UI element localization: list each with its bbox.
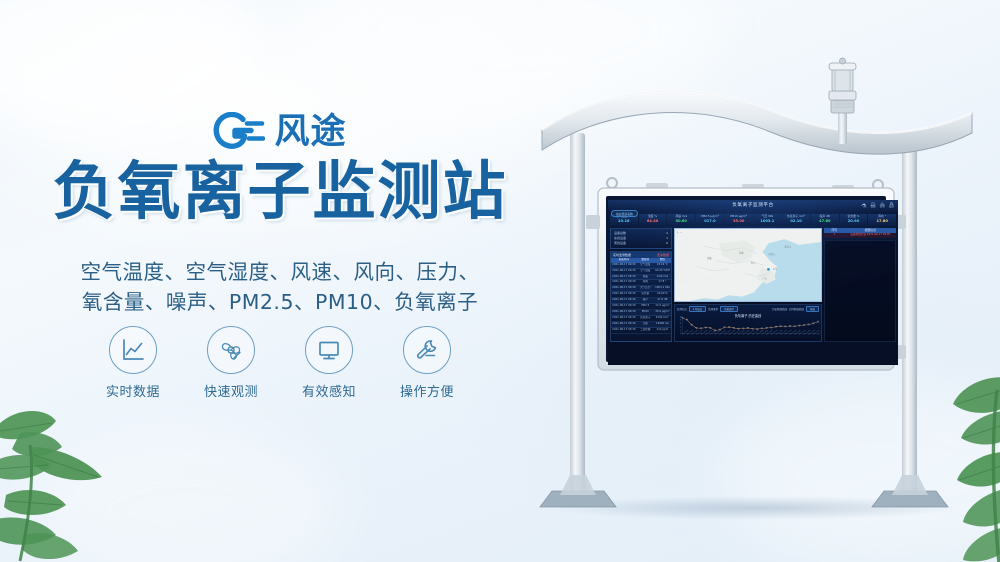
feature-icon-wrap xyxy=(207,326,255,374)
fengtu-wind-g-logo-icon xyxy=(213,112,265,152)
dashboard-center-column: 新疆 西藏 四川 内蒙古 山东 广东 黑龙江 ＋ － xyxy=(674,228,822,342)
table-cell: 噪声 xyxy=(637,298,654,303)
alarm-index: 1 xyxy=(824,233,845,238)
table-caption-text: 实时监测数据 xyxy=(613,253,631,257)
table-cell: 35.0 μg/m³ xyxy=(654,310,671,315)
table-cell: 17.0 μg/m³ xyxy=(654,304,671,309)
metric-card[interactable]: 风向 °17.80 xyxy=(868,214,896,226)
feature-icon-wrap xyxy=(403,326,451,374)
site-select[interactable]: 1号站点 xyxy=(689,306,706,312)
header-icon-label: 设置 xyxy=(889,205,894,208)
table-cell: 2021-08-17 09:30 xyxy=(611,298,637,303)
metric-label: 气压 hPa xyxy=(754,215,782,218)
subtitle-line-1: 空气温度、空气湿度、风速、风向、压力、 xyxy=(0,258,560,288)
header-icon-data[interactable]: ◳数据 xyxy=(870,202,875,209)
stat-line: 离线设备0 xyxy=(614,241,668,246)
table-cell: 2100 /cm³ xyxy=(654,316,671,321)
feature-item-effective-sensing[interactable]: 有效感知 xyxy=(298,326,360,400)
history-chart: 监测站点 1号站点 监测要素 负氧离子 历史数据曲线 实时数据曲线 导出 负氧离… xyxy=(674,304,822,342)
metric-value: 00.60 xyxy=(667,219,695,224)
metric-value: 35.00 xyxy=(725,219,753,224)
metric-value: 23.16 xyxy=(610,219,638,224)
header-icon-label: 气象 xyxy=(861,205,866,208)
svg-text:2: 2 xyxy=(680,326,681,328)
metric-value: 17.80 xyxy=(868,219,896,224)
table-row[interactable]: 2021-08-17 09:30二氧化碳412 ppm xyxy=(611,328,671,334)
svg-text:6: 6 xyxy=(680,316,681,318)
site-select-label: 监测站点 xyxy=(677,307,687,311)
metric-card[interactable]: 风速 m/s00.60 xyxy=(667,214,695,226)
brand-name: 风途 xyxy=(274,115,346,150)
table-cell: 2021-08-17 09:30 xyxy=(611,292,637,297)
table-cell: 20.90 % xyxy=(654,292,671,297)
banner-root: 风途 负氧离子监测站 空气温度、空气湿度、风速、风向、压力、 氧含量、噪声、PM… xyxy=(0,0,1000,562)
table-cell: 2021-08-17 09:30 xyxy=(611,310,637,315)
dashboard-body: 设备总数1在线设备1离线设备0 实时监测数据 更多数据 采集时间 数据项 数值 … xyxy=(608,226,898,344)
table-cell: 负氧离子 xyxy=(637,316,654,321)
login-button[interactable]: 欢迎登录系统 xyxy=(611,210,638,217)
table-cell: PM10 xyxy=(637,310,654,315)
dashboard-root: 负氧离子监测平台 欢迎登录系统 ☁气象 ◳数据 ◎监测 ⚙设置 空气温度 ℃23… xyxy=(608,200,898,365)
table-cell: 2021-08-17 09:30 xyxy=(611,269,637,274)
left-base-plate xyxy=(540,475,616,507)
table-cell: 64.40 %RH xyxy=(654,269,671,274)
svg-text:4: 4 xyxy=(680,323,681,325)
map-graphic: 新疆 西藏 四川 内蒙古 山东 广东 黑龙江 xyxy=(675,229,821,301)
metric-value: 20.90 xyxy=(840,219,868,224)
table-body: 2021-08-17 09:30空气温度23.16 ℃2021-08-17 09… xyxy=(611,263,671,334)
metric-label: 负氧离子 /cm³ xyxy=(782,215,810,218)
feature-label: 实时数据 xyxy=(102,381,164,400)
metric-value: 017.0 xyxy=(696,219,724,224)
subtitle-line-2: 氧含量、噪声、PM2.5、PM10、负氧离子 xyxy=(0,288,560,318)
text-column: 风途 负氧离子监测站 空气温度、空气湿度、风速、风向、压力、 氧含量、噪声、PM… xyxy=(0,0,560,562)
chart-toolbar: 监测站点 1号站点 监测要素 负氧离子 历史数据曲线 实时数据曲线 导出 xyxy=(675,305,821,313)
feature-item-realtime-data[interactable]: 实时数据 xyxy=(102,326,164,400)
table-cell: 0.60 m/s xyxy=(654,275,671,280)
table-cell: 1003.1 hPa xyxy=(654,286,671,291)
metric-card[interactable]: PM2.5 μg/m³017.0 xyxy=(696,214,724,226)
dashboard-header-icons: ☁气象 ◳数据 ◎监测 ⚙设置 xyxy=(861,202,894,209)
table-cell: 光照 xyxy=(637,322,654,327)
mount-clip xyxy=(646,183,668,188)
table-cell: 412 ppm xyxy=(654,328,671,333)
metric-label: 噪声 dB xyxy=(811,215,839,218)
metric-label: 湿度 % xyxy=(639,215,667,218)
legend-historical: 历史数据曲线 xyxy=(772,307,787,311)
item-select[interactable]: 负氧离子 xyxy=(720,306,738,312)
table-cell: 2021-08-17 09:30 xyxy=(611,280,637,285)
table-cell: 2021-08-17 09:30 xyxy=(611,322,637,327)
metric-card[interactable]: 气压 hPa1003.1 xyxy=(754,214,782,226)
metric-label: PM2.5 μg/m³ xyxy=(696,215,724,218)
left-support-post xyxy=(570,133,585,499)
table-cell: 23.16 ℃ xyxy=(654,263,671,268)
feature-label: 有效感知 xyxy=(298,381,360,400)
table-cell: PM2.5 xyxy=(637,304,654,309)
table-more-link[interactable]: 更多数据 xyxy=(657,253,669,257)
feature-item-easy-operation[interactable]: 操作方便 xyxy=(396,326,458,400)
svg-text:内蒙古: 内蒙古 xyxy=(768,251,775,255)
feature-item-fast-observation[interactable]: 快速观测 xyxy=(200,326,262,400)
stat-label: 离线设备 xyxy=(614,241,626,246)
metric-value: 47.60 xyxy=(811,219,839,224)
subtitle: 空气温度、空气湿度、风速、风向、压力、 氧含量、噪声、PM2.5、PM10、负氧… xyxy=(0,258,560,317)
radar-fan-icon xyxy=(218,337,244,363)
metric-label: 风向 ° xyxy=(868,215,896,218)
feature-label: 操作方便 xyxy=(396,381,458,400)
header-icon-weather[interactable]: ☁气象 xyxy=(861,202,866,209)
metric-card[interactable]: 氧含量 %20.90 xyxy=(840,214,868,226)
right-base-plate xyxy=(872,475,948,507)
dashboard-right-column: 序号 报警信息 1 设备离线告警 2021-08-17 09:05 xyxy=(824,228,896,342)
svg-text:黑龙江: 黑龙江 xyxy=(785,244,792,248)
header-icon-settings[interactable]: ⚙设置 xyxy=(889,202,894,209)
table-cell: 2021-08-17 09:30 xyxy=(611,263,637,268)
page-title: 负氧离子监测站 xyxy=(0,158,560,226)
wrench-icon xyxy=(414,337,440,363)
metric-label: PM10 μg/m³ xyxy=(725,215,753,218)
svg-text:1: 1 xyxy=(680,329,681,331)
table-cell: 风速 xyxy=(637,275,654,280)
table-cell: 12800 lux xyxy=(654,322,671,327)
legend-realtime: 实时数据曲线 xyxy=(789,307,804,311)
export-button[interactable]: 导出 xyxy=(806,306,819,312)
feature-label: 快速观测 xyxy=(200,381,262,400)
table-cell: 17.8 ° xyxy=(654,280,671,285)
feature-list: 实时数据 快速观测 xyxy=(0,326,560,400)
alarm-panel: 序号 报警信息 1 设备离线告警 2021-08-17 09:05 xyxy=(824,228,896,238)
svg-text:5: 5 xyxy=(680,319,681,321)
table-cell: 2021-08-17 09:30 xyxy=(611,304,637,309)
table-cell: 风向 xyxy=(637,280,654,285)
stat-value: 0 xyxy=(666,241,668,246)
metric-row: 空气温度 ℃23.16湿度 %64.40风速 m/s00.60PM2.5 μg/… xyxy=(608,213,898,226)
table-cell: 大气压力 xyxy=(637,286,654,291)
dashboard-title: 负氧离子监测平台 xyxy=(608,202,898,208)
metric-card[interactable]: 负氧离子 /cm³02.10 xyxy=(782,214,810,226)
brand-lockup: 风途 xyxy=(0,112,560,152)
left-bracket xyxy=(586,215,600,229)
feature-icon-wrap xyxy=(305,326,353,374)
dashboard-left-column: 设备总数1在线设备1离线设备0 实时监测数据 更多数据 采集时间 数据项 数值 … xyxy=(610,228,672,342)
metric-card[interactable]: PM10 μg/m³35.00 xyxy=(725,214,753,226)
hanger-ring xyxy=(607,178,617,188)
svg-text:四川: 四川 xyxy=(751,261,755,264)
svg-text:0: 0 xyxy=(680,333,681,335)
item-select-label: 监测要素 xyxy=(708,307,718,311)
right-panel-filler xyxy=(824,240,896,342)
monitor-icon xyxy=(316,337,342,363)
table-cell: 空气温度 xyxy=(637,263,654,268)
alarm-message: 设备离线告警 2021-08-17 09:05 xyxy=(845,233,896,238)
metric-label: 氧含量 % xyxy=(840,215,868,218)
header-icon-label: 数据 xyxy=(870,205,875,208)
line-chart-icon xyxy=(120,337,146,363)
dashboard-screen[interactable]: 负氧离子监测平台 欢迎登录系统 ☁气象 ◳数据 ◎监测 ⚙设置 空气温度 ℃23… xyxy=(608,200,898,365)
map-zoom-controls[interactable]: ＋ － xyxy=(677,230,683,234)
table-cell: 氧含量 xyxy=(637,292,654,297)
metric-card[interactable]: 噪声 dB47.60 xyxy=(811,214,839,226)
feature-icon-wrap xyxy=(109,326,157,374)
metric-label: 风速 m/s xyxy=(667,215,695,218)
right-support-post xyxy=(902,143,917,499)
table-cell: 2021-08-17 09:30 xyxy=(611,328,637,333)
table-cell: 2021-08-17 09:30 xyxy=(611,275,637,280)
chart-plot: 01245608-17 00:0008-17 00:3008-17 01:000… xyxy=(675,315,821,341)
metric-value: 64.40 xyxy=(639,219,667,224)
table-cell: 47.6 dB xyxy=(654,298,671,303)
metric-value: 02.10 xyxy=(782,219,810,224)
table-cell: 2021-08-17 09:30 xyxy=(611,286,637,291)
header-icon-label: 监测 xyxy=(880,205,885,208)
device-stats: 设备总数1在线设备1离线设备0 xyxy=(610,228,672,249)
ultrasonic-weather-sensor-icon xyxy=(829,58,856,113)
metric-card[interactable]: 湿度 %64.40 xyxy=(639,214,667,226)
header-icon-monitor[interactable]: ◎监测 xyxy=(880,202,885,209)
china-map[interactable]: 新疆 西藏 四川 内蒙古 山东 广东 黑龙江 ＋ － xyxy=(674,228,822,302)
realtime-data-table[interactable]: 实时监测数据 更多数据 采集时间 数据项 数值 2021-08-17 09:30… xyxy=(610,251,672,342)
table-cell: 二氧化碳 xyxy=(637,328,654,333)
table-cell: 空气湿度 xyxy=(637,269,654,274)
sensor-mast xyxy=(838,110,847,144)
dashboard-header: 负氧离子监测平台 欢迎登录系统 ☁气象 ◳数据 ◎监测 ⚙设置 xyxy=(608,200,898,213)
table-cell: 2021-08-17 09:30 xyxy=(611,316,637,321)
metric-value: 1003.1 xyxy=(754,219,782,224)
alarm-row[interactable]: 1 设备离线告警 2021-08-17 09:05 xyxy=(824,233,896,238)
